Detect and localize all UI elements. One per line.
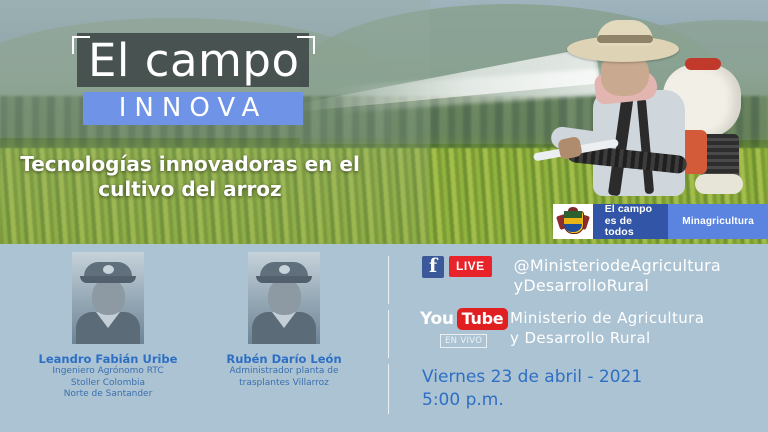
ministry-label: Minagricultura <box>668 204 768 239</box>
farmer-hat-band <box>597 35 653 43</box>
speaker-role-line: Norte de Santander <box>20 389 196 401</box>
speaker-role-line: trasplantes Villarroz <box>196 378 372 390</box>
youtube-word-you: You <box>420 309 454 329</box>
speaker-role-line: Stoller Colombia <box>20 378 196 390</box>
youtube-channel[interactable]: Ministerio de Agricultura y Desarrollo R… <box>510 308 704 348</box>
event-time: 5:00 p.m. <box>422 389 642 412</box>
event-datetime: Viernes 23 de abril - 2021 5:00 p.m. <box>422 366 642 412</box>
facebook-handle[interactable]: @MinisteriodeAgricultura yDesarrolloRura… <box>514 256 721 296</box>
speaker-role-line: Ingeniero Agrónomo RTC <box>20 366 196 378</box>
speaker-photo-ruben <box>248 252 320 344</box>
vertical-divider-bottom <box>388 364 389 414</box>
farmer-with-sprayer <box>545 18 760 224</box>
vertical-divider-middle <box>388 310 389 358</box>
colombia-coat-of-arms-icon <box>553 204 593 239</box>
sprayer-base <box>695 174 743 194</box>
youtube-channel-line2: y Desarrollo Rural <box>510 328 704 348</box>
youtube-icon[interactable]: You Tube EN VIVO <box>420 308 494 348</box>
live-badge: LIVE <box>449 256 492 277</box>
facebook-handle-line2: yDesarrolloRural <box>514 276 721 296</box>
webinar-poster: El campo INNOVA Tecnologías innovadoras … <box>0 0 768 432</box>
gov-slogan: El campo es de todos <box>593 204 669 239</box>
speaker-card-2: Rubén Darío León Administrador planta de… <box>196 252 372 389</box>
speaker-name: Rubén Darío León <box>196 352 372 366</box>
facebook-handle-line1: @MinisteriodeAgricultura <box>514 256 721 276</box>
government-logo-bar: El campo es de todos Minagricultura <box>553 204 768 239</box>
youtube-live-row[interactable]: You Tube EN VIVO Ministerio de Agricultu… <box>420 308 704 348</box>
gov-slogan-line2: es de todos <box>605 216 659 239</box>
speaker-card-1: Leandro Fabián Uribe Ingeniero Agrónomo … <box>20 252 196 401</box>
event-headline: Tecnologías innovadoras en el cultivo de… <box>12 152 368 202</box>
sprayer-tank-lid <box>685 58 721 70</box>
speaker-name: Leandro Fabián Uribe <box>20 352 196 366</box>
speaker-photo-leandro <box>72 252 144 344</box>
vertical-divider-top <box>388 256 389 304</box>
youtube-channel-line1: Ministerio de Agricultura <box>510 308 704 328</box>
facebook-icon[interactable] <box>422 256 444 278</box>
program-subtitle: INNOVA <box>83 92 303 125</box>
speaker-role-line: Administrador planta de <box>196 366 372 378</box>
event-date: Viernes 23 de abril - 2021 <box>422 366 642 389</box>
program-title: El campo <box>88 33 318 89</box>
en-vivo-badge: EN VIVO <box>440 334 487 348</box>
facebook-live-row[interactable]: LIVE @MinisteriodeAgricultura yDesarroll… <box>422 256 721 296</box>
youtube-word-tube: Tube <box>457 308 509 330</box>
